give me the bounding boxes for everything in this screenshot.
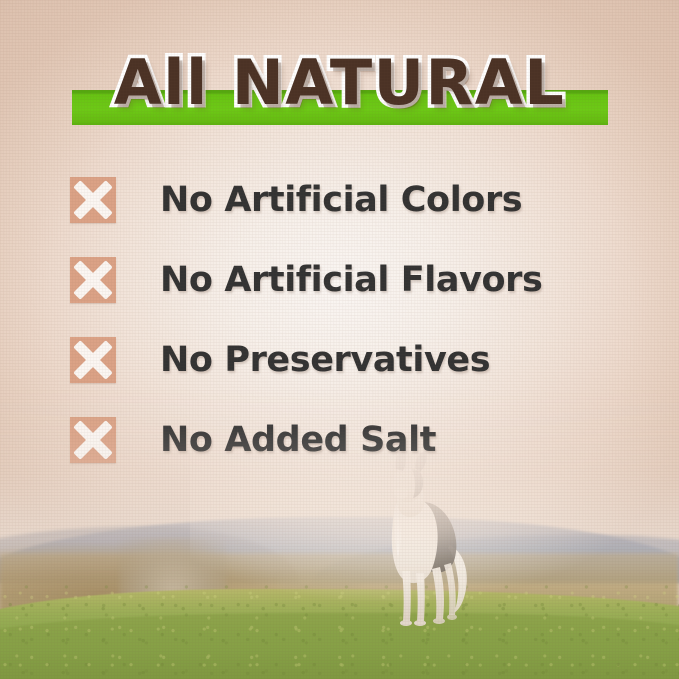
claim-label: No Artificial Colors bbox=[160, 180, 522, 220]
x-mark-icon bbox=[70, 177, 116, 223]
grass-foreground bbox=[0, 613, 679, 679]
page-title: All NATURAL bbox=[0, 46, 679, 120]
headline-banner: All NATURAL bbox=[0, 46, 679, 138]
x-mark-icon bbox=[70, 337, 116, 383]
product-feature-poster: All NATURAL No Artificial Colors No Arti… bbox=[0, 0, 679, 679]
claim-label: No Artificial Flavors bbox=[160, 260, 542, 300]
photo-faded-layer bbox=[0, 379, 679, 679]
list-item: No Artificial Flavors bbox=[70, 252, 630, 308]
dog-illustration bbox=[368, 449, 476, 639]
claim-label: No Preservatives bbox=[160, 340, 490, 380]
lifestyle-photo bbox=[0, 379, 679, 679]
x-mark-icon bbox=[70, 257, 116, 303]
list-item: No Artificial Colors bbox=[70, 172, 630, 228]
